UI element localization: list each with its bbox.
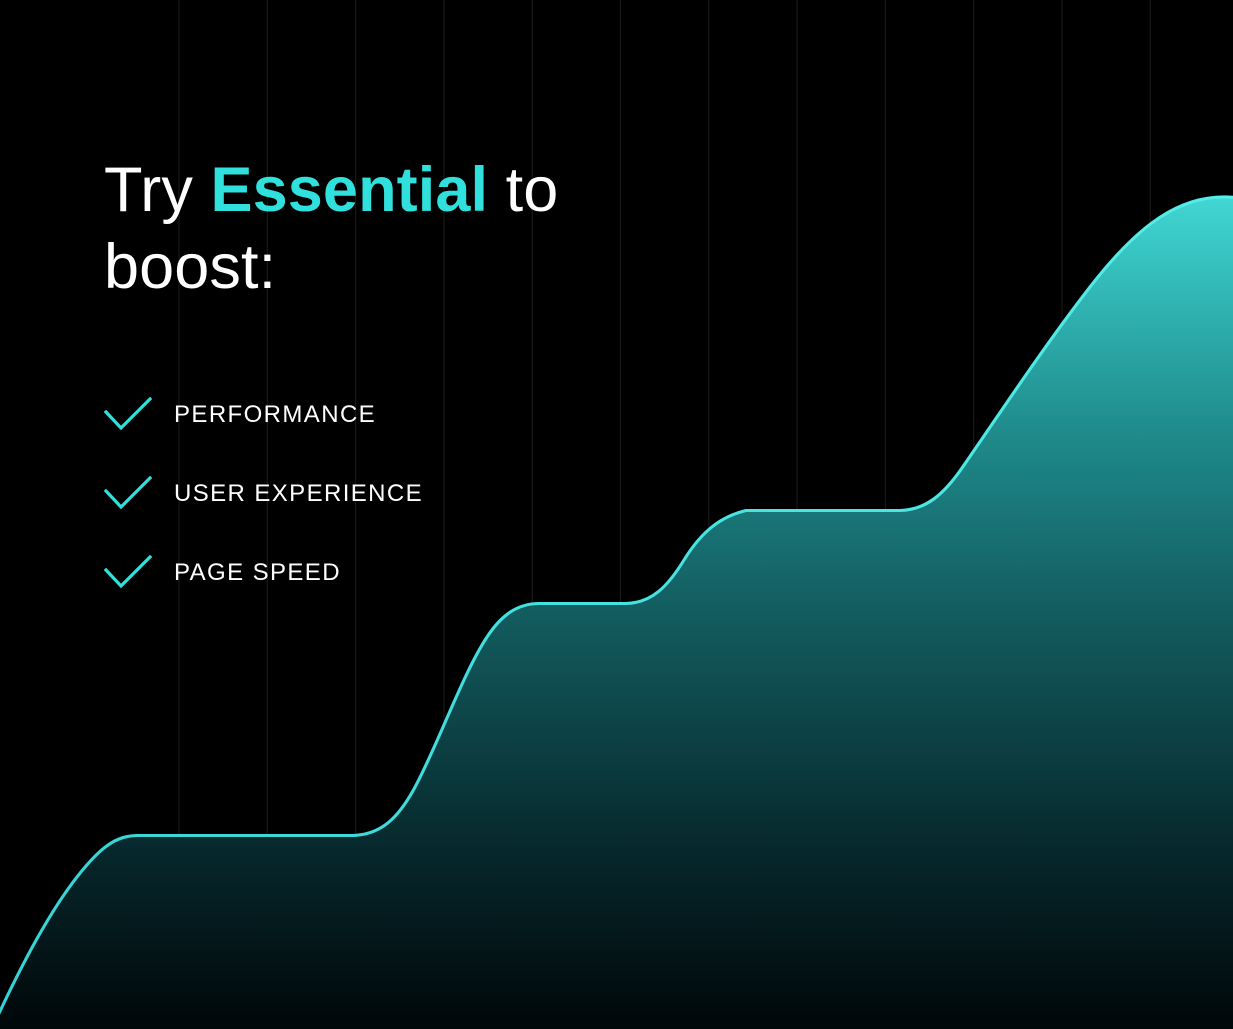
promo-canvas: Try Essential to boost: PERFORMANCE USER… [0,0,1233,1029]
list-item: USER EXPERIENCE [104,469,423,519]
list-item: PERFORMANCE [104,390,423,440]
list-item-label: USER EXPERIENCE [174,482,423,506]
benefits-checklist: PERFORMANCE USER EXPERIENCE PAGE SPEED [104,390,423,598]
chart-area-fill [0,197,1233,1029]
check-icon [104,555,152,591]
check-icon [104,476,152,512]
list-item: PAGE SPEED [104,548,423,598]
list-item-label: PERFORMANCE [174,403,376,427]
page-title: Try Essential to boost: [104,152,724,306]
check-icon [104,397,152,433]
headline-lead: Try [104,155,211,225]
headline-accent: Essential [211,155,489,225]
list-item-label: PAGE SPEED [174,561,341,585]
